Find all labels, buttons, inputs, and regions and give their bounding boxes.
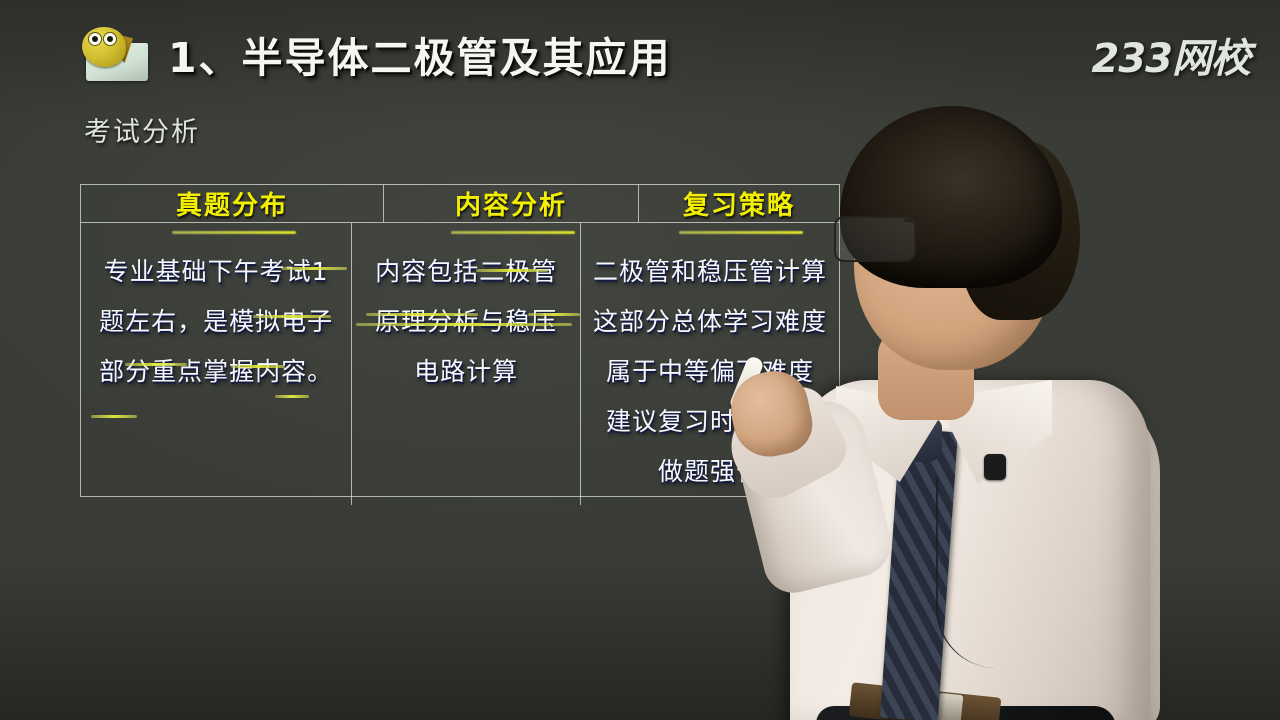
- header-label-zhentifenbu: 真题分布: [176, 185, 288, 222]
- cell-line: 题左右，是模拟电子: [99, 299, 333, 345]
- slide-content: 1、半导体二极管及其应用 考试分析 233网校 真题分布 内容分析 复习策略 专…: [0, 0, 1280, 720]
- table-header-cell-3: 复习策略: [639, 185, 839, 222]
- table-header-cell-1: 真题分布: [81, 185, 384, 222]
- cell-line: 二极管和稳压管计算: [593, 249, 827, 295]
- table-cell-neirongfenxi: 内容包括二极管 原理分析与稳压 电路计算: [352, 223, 581, 505]
- cell-line: 建议复习时吃透，: [606, 399, 814, 445]
- cell-line: 专业基础下午考试1: [104, 249, 329, 295]
- header-label-neirongfenxi: 内容分析: [455, 185, 567, 222]
- exam-analysis-table: 真题分布 内容分析 复习策略 专业基础下午考试1 题左右，是模拟电子 部分重点掌…: [80, 184, 840, 497]
- table-cell-zhentifenbu: 专业基础下午考试1 题左右，是模拟电子 部分重点掌握内容。: [81, 223, 352, 505]
- highlight-stroke: [91, 415, 137, 418]
- header-label-fuxicelue: 复习策略: [683, 185, 795, 222]
- highlight-stroke: [275, 395, 309, 398]
- cell-line: 电路计算: [414, 349, 518, 395]
- cell-line: 做题强化: [658, 449, 762, 495]
- table-body-row: 专业基础下午考试1 题左右，是模拟电子 部分重点掌握内容。 内容包括二极管 原理…: [81, 223, 839, 505]
- cell-line: 这部分总体学习难度: [593, 299, 827, 345]
- table-cell-fuxicelue: 二极管和稳压管计算 这部分总体学习难度 属于中等偏下难度 建议复习时吃透， 做题…: [581, 223, 839, 505]
- table-header-row: 真题分布 内容分析 复习策略: [81, 185, 839, 223]
- cell-line: 内容包括二极管: [375, 249, 557, 295]
- cell-line: 属于中等偏下难度: [606, 349, 814, 395]
- slide-subtitle: 考试分析: [84, 110, 200, 149]
- table-header-cell-2: 内容分析: [384, 185, 639, 222]
- video-frame: 1、半导体二极管及其应用 考试分析 233网校 真题分布 内容分析 复习策略 专…: [0, 0, 1280, 720]
- brand-watermark: 233网校: [1092, 26, 1251, 84]
- chick-speech-bubble-icon: [78, 25, 154, 83]
- page-title: 1、半导体二极管及其应用: [168, 24, 672, 84]
- slide-header: 1、半导体二极管及其应用: [78, 24, 672, 84]
- cell-line: 原理分析与稳压: [375, 299, 557, 345]
- cell-line: 部分重点掌握内容。: [99, 349, 333, 395]
